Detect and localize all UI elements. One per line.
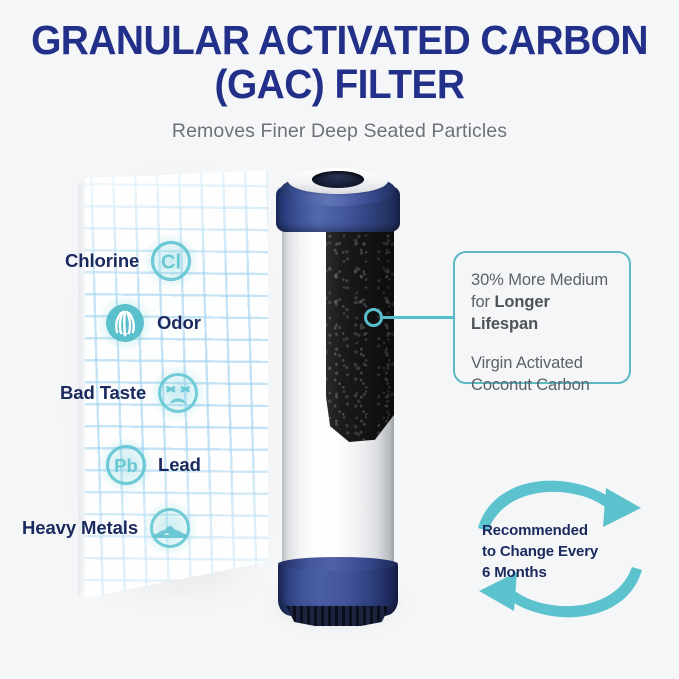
contaminant-chlorine: Chlorine Cl xyxy=(65,238,194,284)
carbon-media-marker xyxy=(364,308,383,327)
filter-media-panel: Chlorine Cl Odor xyxy=(60,160,280,620)
contaminant-label: Odor xyxy=(157,312,201,334)
contaminant-label: Lead xyxy=(158,454,201,476)
replacement-interval-text: Recommended to Change Every 6 Months xyxy=(482,520,642,583)
page-title-line-1: GRANULAR ACTIVATED CARBON xyxy=(17,18,662,62)
odor-smoke-icon xyxy=(102,300,148,346)
replacement-line-2: to Change Every xyxy=(482,541,642,562)
contaminant-heavy-metals: Heavy Metals xyxy=(22,505,193,551)
replacement-line-3: 6 Months xyxy=(482,562,642,583)
callout-line-1b: for Longer Lifespan xyxy=(471,291,615,335)
callout-box-carbon-media: 30% More Medium for Longer Lifespan Virg… xyxy=(453,251,631,384)
infographic-canvas: GRANULAR ACTIVATED CARBON (GAC) FILTER R… xyxy=(0,0,679,679)
page-title-line-2: (GAC) FILTER xyxy=(17,62,662,106)
contaminant-bad-taste: Bad Taste xyxy=(60,370,201,416)
page-subtitle: Removes Finer Deep Seated Particles xyxy=(0,120,679,143)
contaminant-label: Bad Taste xyxy=(60,382,146,404)
cartridge-bottom-cap-rim xyxy=(278,557,398,571)
callout-line-1: 30% More Medium xyxy=(471,269,615,291)
gac-filter-cartridge xyxy=(262,166,414,646)
chlorine-cl-icon: Cl xyxy=(148,238,194,284)
contaminant-odor: Odor xyxy=(102,300,201,346)
callout-line-2: Virgin Activated xyxy=(471,352,615,374)
contaminant-label: Heavy Metals xyxy=(22,517,138,539)
callout-line-3: Coconut Carbon xyxy=(471,374,615,396)
svg-text:Cl: Cl xyxy=(161,252,181,274)
replacement-cycle-block: Recommended to Change Every 6 Months xyxy=(460,470,660,630)
contaminant-lead: Lead Pb xyxy=(103,442,201,488)
bad-taste-face-icon xyxy=(155,370,201,416)
cartridge-outlet-port xyxy=(312,171,364,188)
header-block: GRANULAR ACTIVATED CARBON (GAC) FILTER R… xyxy=(0,18,679,143)
callout-leader-line xyxy=(383,316,458,319)
carbon-shading xyxy=(326,216,394,442)
cartridge-base-ridges xyxy=(286,606,390,626)
activated-carbon-media xyxy=(326,216,394,442)
contaminant-label: Chlorine xyxy=(65,250,139,272)
heavy-metals-icon xyxy=(147,505,193,551)
svg-text:Pb: Pb xyxy=(114,455,138,476)
replacement-line-1: Recommended xyxy=(482,520,642,541)
callout-line-1b-normal: for xyxy=(471,293,494,311)
lead-pb-icon: Pb xyxy=(103,442,149,488)
